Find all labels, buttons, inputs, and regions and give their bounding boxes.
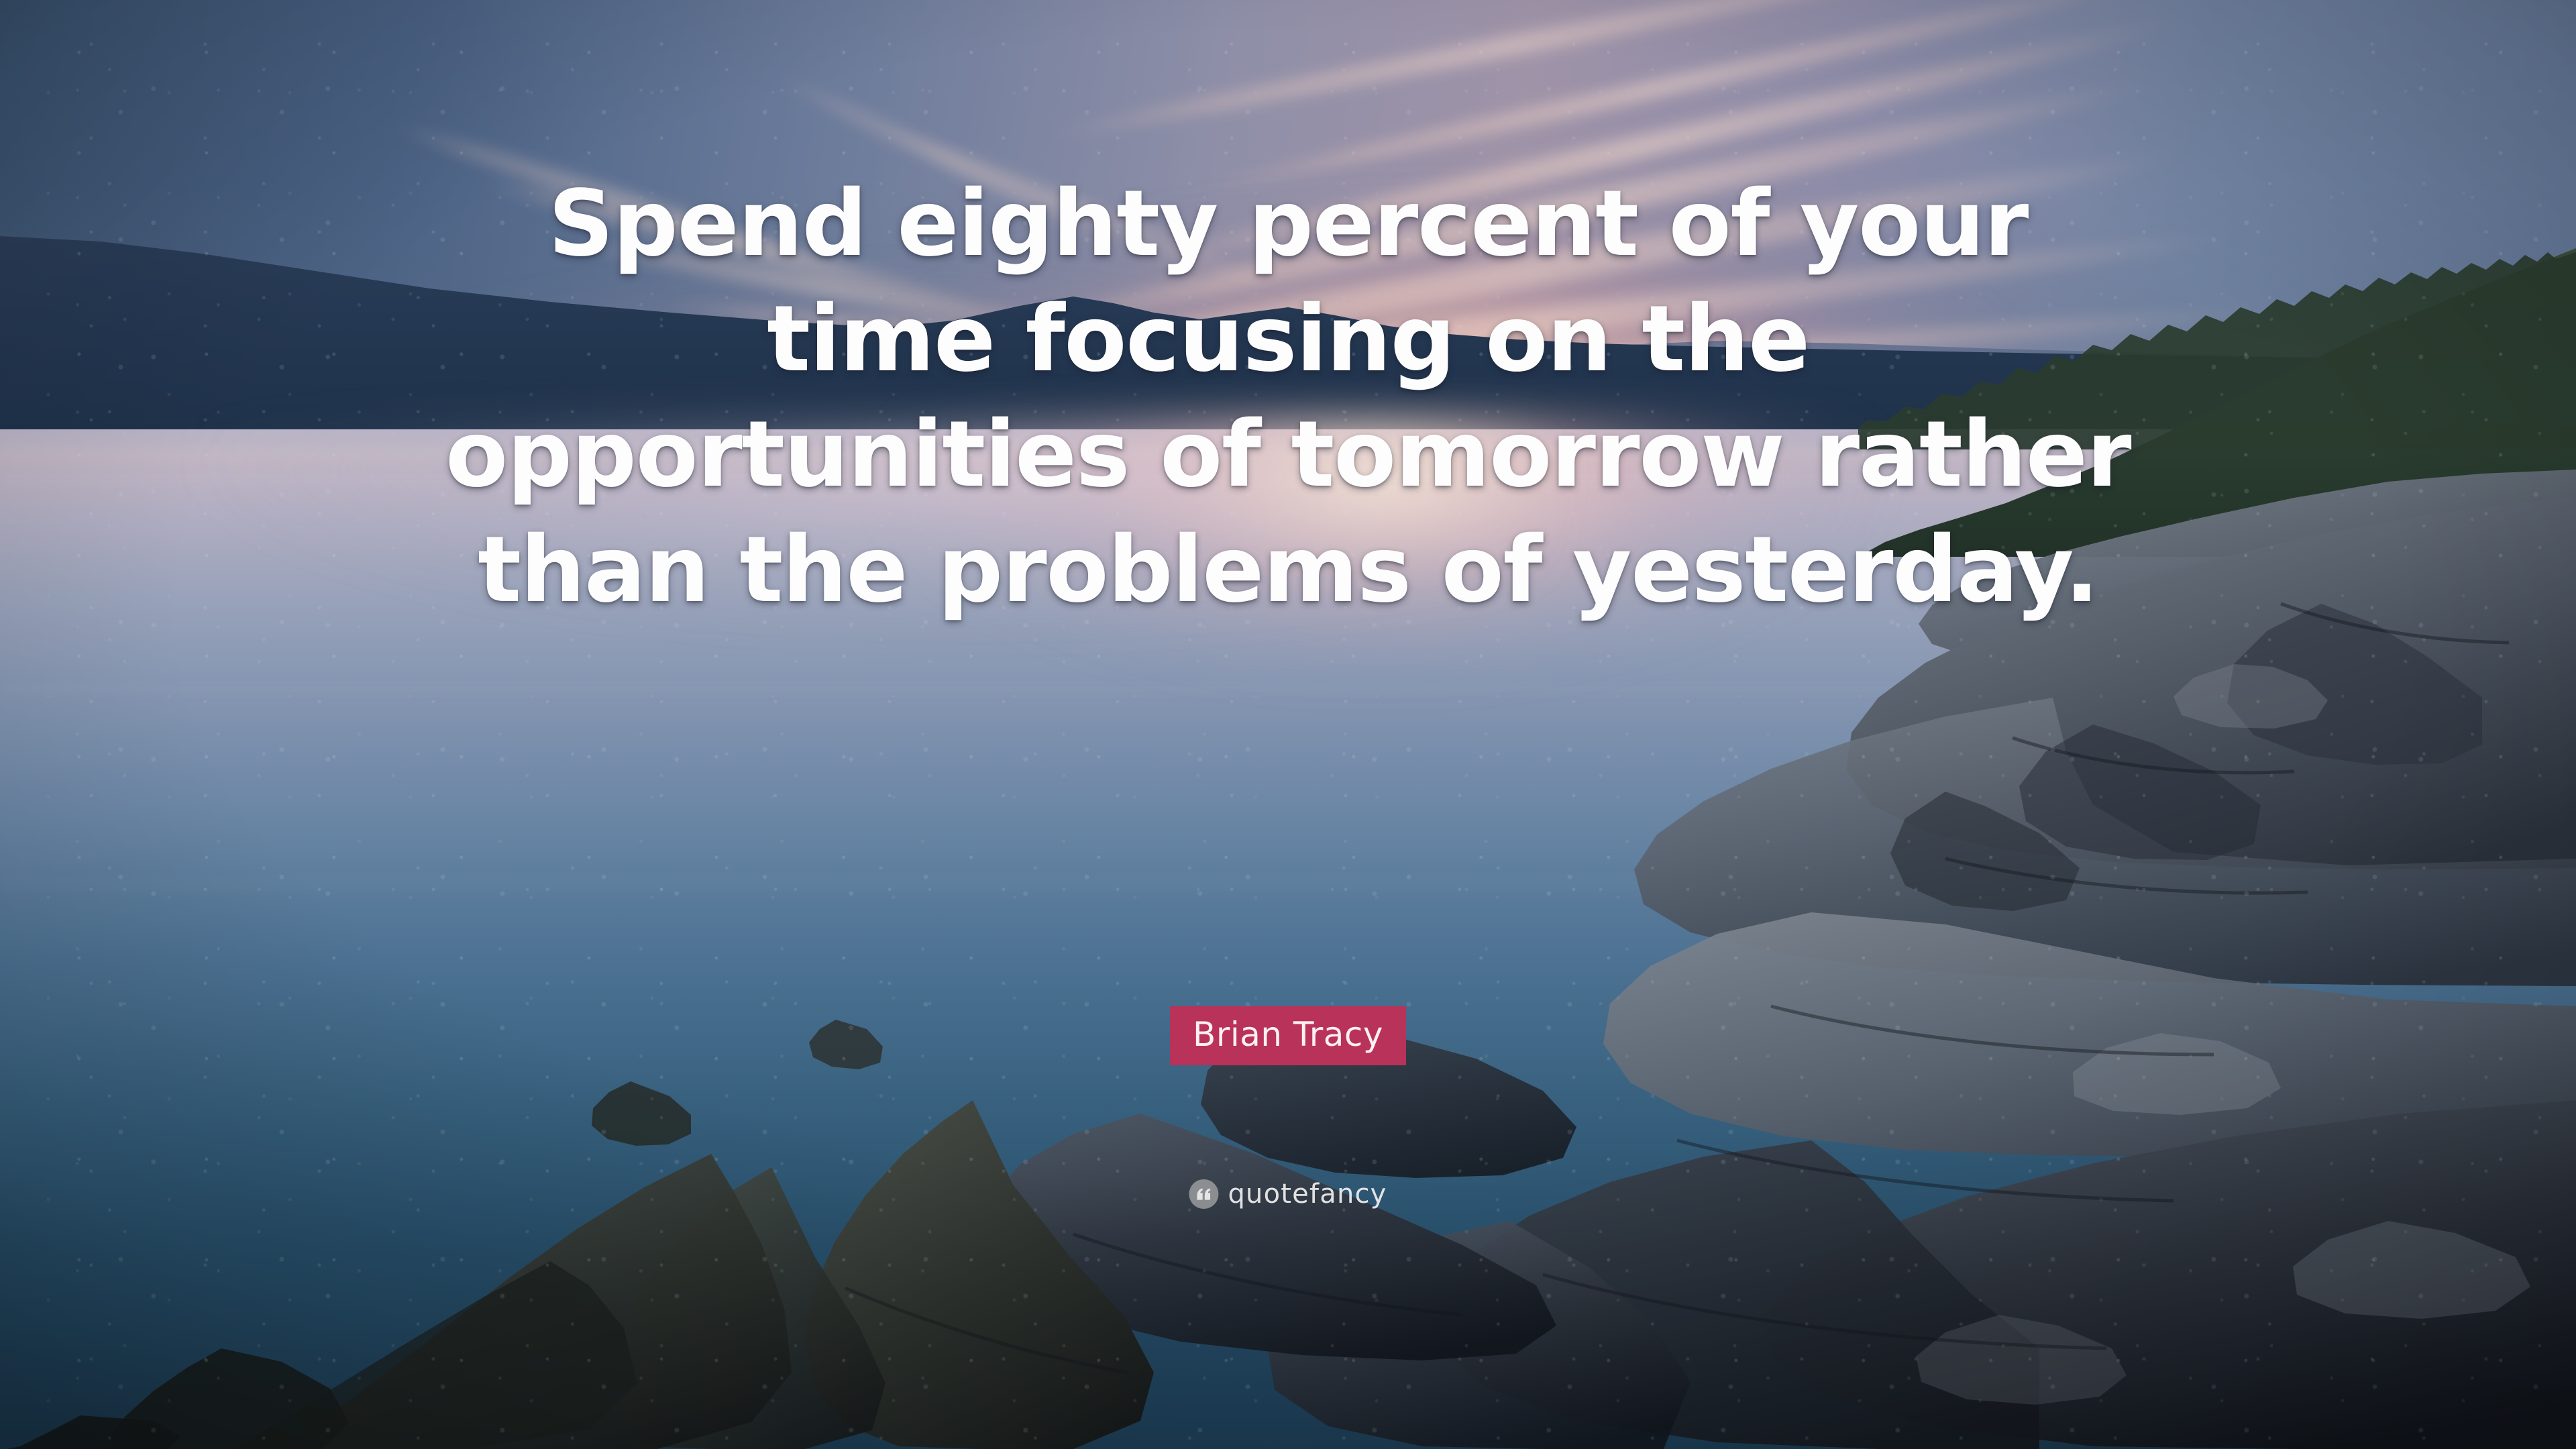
text-overlay: Spend eighty percent of your time focusi… <box>0 0 2576 1449</box>
quote-line-1: Spend eighty percent of your <box>416 166 2160 282</box>
quote-line-2: time focusing on the <box>416 282 2160 397</box>
author-badge: Brian Tracy <box>1170 1006 1406 1065</box>
quotefancy-watermark[interactable]: quotefancy <box>1189 1179 1387 1209</box>
quote-line-4: than the problems of yesterday. <box>416 513 2160 628</box>
quote-line-3: opportunities of tomorrow rather <box>416 397 2160 513</box>
quote-text: Spend eighty percent of your time focusi… <box>416 166 2160 628</box>
quote-poster: Spend eighty percent of your time focusi… <box>0 0 2576 1449</box>
quotefancy-label: quotefancy <box>1228 1179 1387 1209</box>
quote-mark-icon <box>1189 1179 1218 1209</box>
